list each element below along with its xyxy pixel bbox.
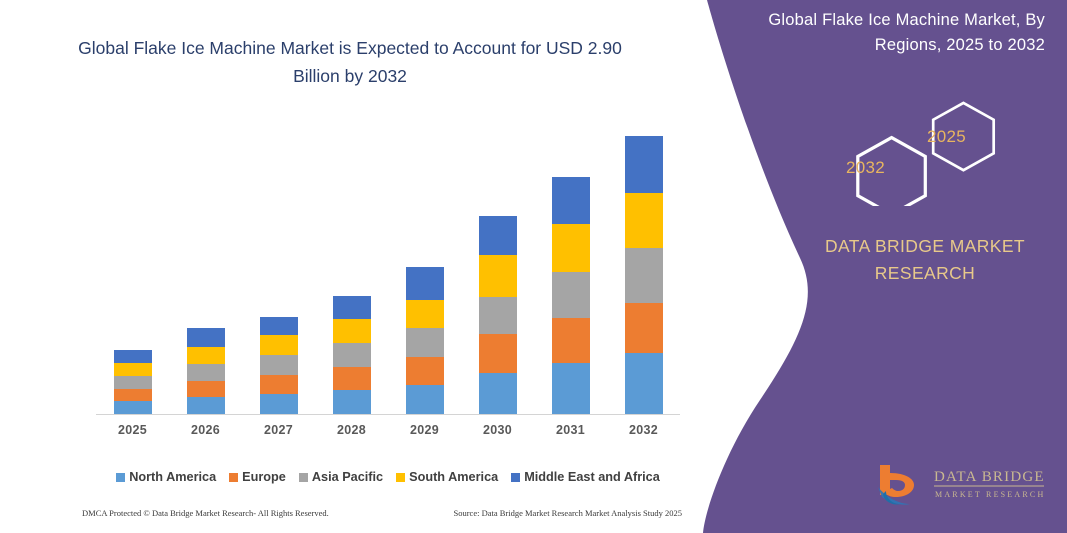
stacked-bar [114,350,152,414]
stacked-bar-chart [96,120,680,414]
bar-segment [552,177,590,224]
x-axis-label: 2031 [534,423,607,437]
x-axis-labels: 20252026202720282029203020312032 [96,423,680,437]
legend-item[interactable]: Asia Pacific [299,470,383,484]
bar-segment [479,255,517,297]
bar-segment [552,363,590,414]
hexagon-label-2025: 2025 [927,127,966,147]
stacked-bar [625,136,663,414]
bar-segment [333,319,371,343]
stacked-bar [187,328,225,414]
legend-swatch [229,473,238,482]
bar-segment [625,136,663,193]
bar-segment [625,193,663,248]
footer-copyright: DMCA Protected © Data Bridge Market Rese… [82,508,329,518]
hexagon-outlines [815,96,1015,206]
bar-column [242,120,315,414]
bar-segment [260,317,298,335]
hexagon-label-2032: 2032 [846,158,885,178]
stacked-bar [552,177,590,414]
bar-segment [333,390,371,414]
legend-label: Middle East and Africa [524,470,660,484]
svg-text:MARKET RESEARCH: MARKET RESEARCH [935,490,1045,499]
legend-item[interactable]: North America [116,470,216,484]
bar-segment [406,328,444,357]
bar-segment [187,347,225,364]
bar-column [534,120,607,414]
bar-segment [479,216,517,255]
bar-segment [260,375,298,394]
x-axis-line [96,414,680,415]
chart-title: Global Flake Ice Machine Market is Expec… [70,34,630,90]
bar-segment [260,355,298,375]
bar-segment [479,334,517,373]
legend-item[interactable]: Middle East and Africa [511,470,660,484]
hexagon-group: 2025 2032 [815,96,1015,206]
bar-segment [552,318,590,363]
bar-segment [333,343,371,367]
legend-item[interactable]: Europe [229,470,286,484]
bar-segment [187,381,225,397]
bar-segment [187,364,225,381]
bar-segment [333,296,371,319]
footer-source: Source: Data Bridge Market Research Mark… [453,508,682,518]
legend-swatch [299,473,308,482]
x-axis-label: 2028 [315,423,388,437]
stacked-bar [260,317,298,414]
x-axis-label: 2025 [96,423,169,437]
legend-label: South America [409,470,498,484]
x-axis-label: 2026 [169,423,242,437]
legend-swatch [396,473,405,482]
stacked-bar [479,216,517,414]
stacked-bar [406,267,444,414]
bar-segment [479,373,517,414]
x-axis-label: 2032 [607,423,680,437]
bar-column [96,120,169,414]
brand-name: DATA BRIDGE MARKET RESEARCH [760,233,1067,287]
bar-segment [625,248,663,303]
svg-text:DATA BRIDGE: DATA BRIDGE [934,469,1045,485]
bar-segment [552,272,590,318]
chart-legend: North AmericaEuropeAsia PacificSouth Ame… [96,470,680,484]
footer: DMCA Protected © Data Bridge Market Rese… [82,508,682,518]
legend-label: Asia Pacific [312,470,383,484]
bar-column [388,120,461,414]
x-axis-label: 2030 [461,423,534,437]
x-axis-label: 2029 [388,423,461,437]
bar-segment [187,397,225,414]
legend-item[interactable]: South America [396,470,498,484]
bar-segment [114,389,152,401]
bar-column [315,120,388,414]
bar-segment [625,303,663,353]
bar-segment [406,300,444,328]
bar-column [461,120,534,414]
legend-label: North America [129,470,216,484]
panel-heading: Global Flake Ice Machine Market, By Regi… [723,8,1045,58]
bar-segment [406,357,444,385]
bar-segment [260,394,298,414]
bar-segment [406,385,444,414]
bar-segment [114,376,152,389]
brand-line-2: RESEARCH [760,260,1067,287]
bar-segment [479,297,517,334]
bar-segment [406,267,444,300]
bar-segment [187,328,225,347]
legend-label: Europe [242,470,286,484]
bar-segment [114,401,152,414]
brand-line-1: DATA BRIDGE MARKET [760,233,1067,260]
bar-segment [625,353,663,414]
bar-segment [552,224,590,272]
x-axis-label: 2027 [242,423,315,437]
bar-segment [260,335,298,355]
legend-swatch [511,473,520,482]
bar-segment [114,363,152,376]
bar-segment [333,367,371,390]
stacked-bar [333,296,371,414]
bar-column [169,120,242,414]
bar-column [607,120,680,414]
legend-swatch [116,473,125,482]
bar-segment [114,350,152,363]
data-bridge-logo: DATA BRIDGE MARKET RESEARCH [872,461,1052,509]
